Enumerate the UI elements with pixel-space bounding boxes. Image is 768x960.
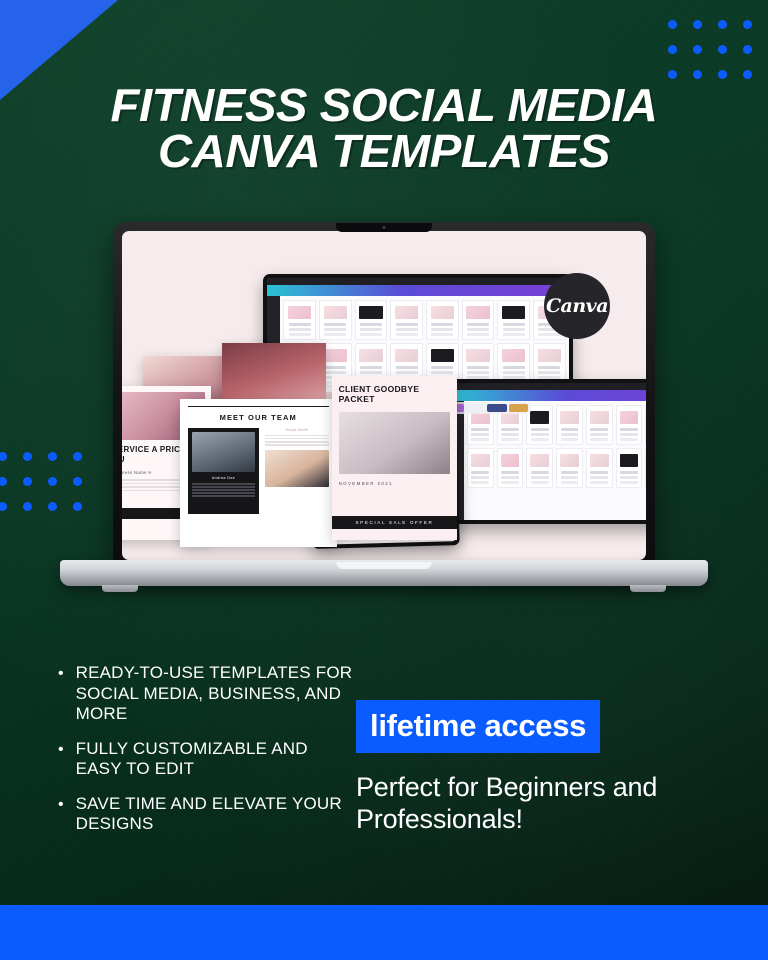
canva-logo-text: Canva [546, 295, 608, 317]
card-packet-date: NOVEMBER 2021 [339, 481, 451, 486]
laptop-screen: Canva [122, 231, 646, 560]
text-line [265, 438, 329, 439]
template-thumb [497, 300, 530, 340]
mockup-card-meet-our-team: MEET OUR TEAM Andrea Doe [180, 399, 337, 547]
laptop-foot-left [102, 585, 138, 592]
canva-workspace [451, 401, 646, 520]
template-thumb [533, 343, 566, 383]
card-packet-photo [339, 412, 451, 474]
bottom-accent-bar [0, 905, 768, 960]
team-columns: Andrea Doe Katya Smith [188, 428, 329, 514]
promo-block: lifetime access Perfect for Beginners an… [356, 700, 686, 835]
dot-grid-top-right [660, 12, 760, 87]
template-thumb [497, 343, 530, 383]
canva-logo-badge: Canva [544, 273, 610, 339]
dock-icon-files [509, 404, 528, 412]
template-thumb [355, 300, 388, 340]
template-thumb [556, 448, 583, 488]
feature-list: • READY-TO-USE TEMPLATES FOR SOCIAL MEDI… [58, 663, 358, 849]
dock-icon-notes [466, 404, 485, 412]
decor-dot [0, 477, 7, 486]
list-item: • READY-TO-USE TEMPLATES FOR SOCIAL MEDI… [58, 663, 358, 725]
list-item: • FULLY CUSTOMIZABLE AND EASY TO EDIT [58, 739, 358, 780]
template-thumb [497, 448, 524, 488]
member-bio-lines [192, 483, 256, 496]
team-side-column: Katya Smith [265, 428, 329, 514]
poster-canvas: FITNESS SOCIAL MEDIA CANVA TEMPLATES Can… [0, 0, 768, 960]
browser-tabbar [451, 383, 646, 390]
headline-line-1: FITNESS SOCIAL MEDIA [30, 82, 739, 128]
template-thumb [616, 405, 643, 445]
template-thumb [645, 448, 646, 488]
laptop-camera-notch [336, 223, 432, 232]
card-packet-banner: SPECIAL SALE OFFER [332, 516, 458, 529]
text-line [265, 435, 329, 436]
decor-dot [693, 45, 702, 54]
template-thumb [586, 448, 613, 488]
template-thumb [526, 448, 553, 488]
mockup-card-client-packet: CLIENT GOODBYE PACKET NOVEMBER 2021 SPEC… [332, 376, 458, 541]
member-photo [192, 432, 256, 472]
decor-dot [48, 452, 57, 461]
template-thumb [462, 300, 495, 340]
team-member-card: Andrea Doe [188, 428, 260, 514]
decor-dot [0, 502, 7, 511]
decor-dot [718, 45, 727, 54]
device-secondary-laptop [447, 379, 646, 524]
page-title: FITNESS SOCIAL MEDIA CANVA TEMPLATES [0, 82, 768, 174]
template-grid [464, 401, 646, 520]
laptop-mockup: Canva [60, 222, 708, 612]
template-thumb [462, 343, 495, 383]
dock-icon-canva [487, 404, 506, 412]
decor-dot [693, 20, 702, 29]
decor-dot [743, 20, 752, 29]
text-line [265, 441, 329, 442]
decor-dot [743, 45, 752, 54]
member-name: Andrea Doe [192, 476, 256, 480]
side-bio-lines [265, 435, 329, 446]
laptop-base [60, 560, 708, 586]
decor-dot [48, 502, 57, 511]
decor-dot [668, 20, 677, 29]
laptop-foot-right [630, 585, 666, 592]
decor-dot [0, 452, 7, 461]
text-line [265, 444, 329, 445]
decor-dot [718, 20, 727, 29]
template-thumb [616, 448, 643, 488]
promo-subtitle: Perfect for Beginners and Professionals! [356, 771, 686, 835]
decor-dot [668, 45, 677, 54]
side-member-photo [265, 450, 329, 488]
template-thumb [426, 300, 459, 340]
decor-dot [23, 477, 32, 486]
decor-dot [23, 452, 32, 461]
feature-text: READY-TO-USE TEMPLATES FOR SOCIAL MEDIA,… [76, 663, 358, 725]
template-thumb [319, 300, 352, 340]
card-team-title: MEET OUR TEAM [188, 413, 329, 422]
decor-dot [23, 502, 32, 511]
card-packet-title: CLIENT GOODBYE PACKET [339, 384, 451, 405]
decor-dot [693, 70, 702, 79]
text-line [192, 492, 256, 493]
bullet-icon: • [58, 663, 64, 725]
text-line [192, 483, 256, 484]
template-thumb [390, 300, 423, 340]
decor-dot [743, 70, 752, 79]
bullet-icon: • [58, 794, 64, 835]
divider [188, 406, 329, 407]
screen-artwork: Canva [122, 231, 646, 560]
text-line [192, 489, 256, 490]
headline-line-2: CANVA TEMPLATES [30, 128, 739, 174]
bullet-icon: • [58, 739, 64, 780]
template-thumb [645, 405, 646, 445]
list-item: • SAVE TIME AND ELEVATE YOUR DESIGNS [58, 794, 358, 835]
template-thumb [283, 300, 316, 340]
browser-tabbar [267, 278, 568, 285]
feature-text: SAVE TIME AND ELEVATE YOUR DESIGNS [76, 794, 358, 835]
decor-dot [668, 70, 677, 79]
lifetime-access-badge: lifetime access [356, 700, 600, 753]
decor-dot [48, 477, 57, 486]
template-thumb [467, 448, 494, 488]
template-thumb [556, 405, 583, 445]
text-line [192, 486, 256, 487]
template-thumb [586, 405, 613, 445]
feature-text: FULLY CUSTOMIZABLE AND EASY TO EDIT [76, 739, 358, 780]
canva-toolbar [267, 285, 568, 296]
laptop-lid: Canva [113, 222, 655, 574]
text-line [192, 495, 256, 496]
canva-toolbar [451, 390, 646, 401]
side-member-name: Katya Smith [265, 428, 329, 432]
decor-dot [718, 70, 727, 79]
